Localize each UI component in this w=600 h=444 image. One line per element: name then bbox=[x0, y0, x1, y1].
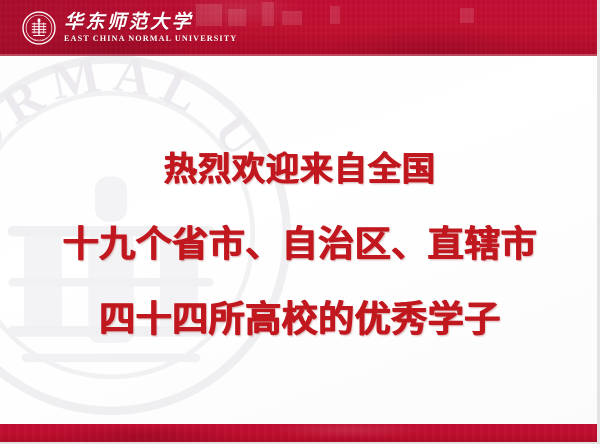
header-building-shape bbox=[262, 2, 274, 26]
headline-block: 热烈欢迎来自全国 十九个省市、自治区、直辖市 四十四所高校的优秀学子 bbox=[0, 56, 600, 424]
headline-line-2: 十九个省市、自治区、直辖市 bbox=[63, 215, 538, 267]
slide-header-band: 华东师范大学 EAST CHINA NORMAL UNIVERSITY bbox=[0, 0, 600, 56]
header-building-shape bbox=[330, 6, 340, 24]
university-logo-lockup: 华东师范大学 EAST CHINA NORMAL UNIVERSITY bbox=[22, 11, 237, 45]
logo-english-name: EAST CHINA NORMAL UNIVERSITY bbox=[64, 35, 237, 43]
logo-chinese-name: 华东师范大学 bbox=[64, 13, 237, 32]
headline-line-1: 热烈欢迎来自全国 bbox=[164, 142, 436, 190]
header-building-shape bbox=[282, 11, 302, 25]
university-seal-icon bbox=[22, 11, 56, 45]
header-building-shape bbox=[460, 8, 474, 23]
slide-footer-band bbox=[0, 424, 600, 444]
slide-body: NORMAL U 热烈欢迎来自全国 十九个省市、自治区、直辖市 四十四所高校的优… bbox=[0, 56, 600, 424]
footer-photo-texture bbox=[0, 424, 600, 444]
headline-line-3: 四十四所高校的优秀学子 bbox=[99, 290, 501, 342]
logo-text-block: 华东师范大学 EAST CHINA NORMAL UNIVERSITY bbox=[64, 13, 237, 43]
presentation-slide: 华东师范大学 EAST CHINA NORMAL UNIVERSITY NORM… bbox=[0, 0, 600, 444]
